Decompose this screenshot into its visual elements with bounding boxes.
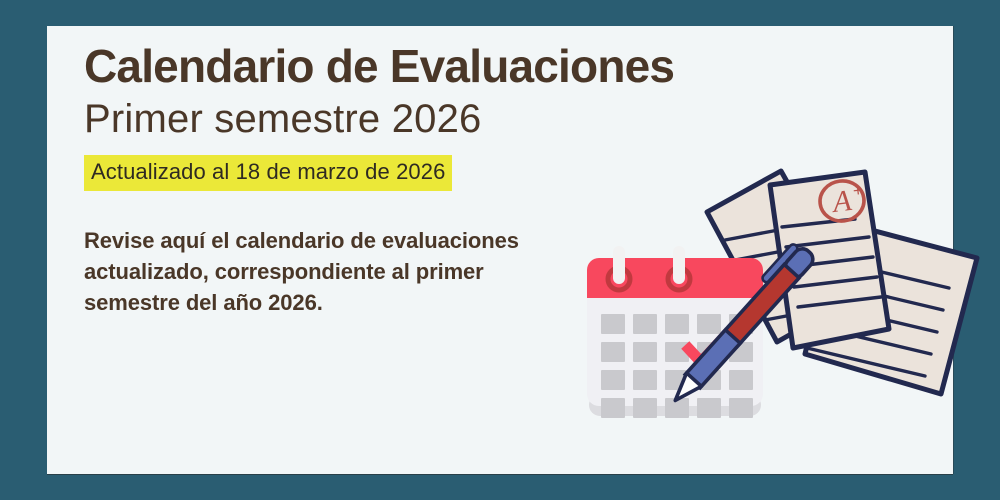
body-paragraph: Revise aquí el calendario de evaluacione… bbox=[84, 191, 584, 318]
page-subtitle: Primer semestre 2026 bbox=[84, 94, 624, 144]
text-block: Calendario de Evaluaciones Primer semest… bbox=[84, 38, 624, 318]
status-badge: Actualizado al 18 de marzo de 2026 bbox=[84, 155, 452, 191]
updated-badge-wrapper: Actualizado al 18 de marzo de 2026 bbox=[84, 155, 624, 191]
calendar-and-papers-illustration: A + bbox=[577, 136, 997, 446]
page-title: Calendario de Evaluaciones bbox=[84, 38, 624, 94]
content-panel: Calendario de Evaluaciones Primer semest… bbox=[47, 26, 953, 474]
banner: Calendario de Evaluaciones Primer semest… bbox=[0, 0, 1000, 500]
